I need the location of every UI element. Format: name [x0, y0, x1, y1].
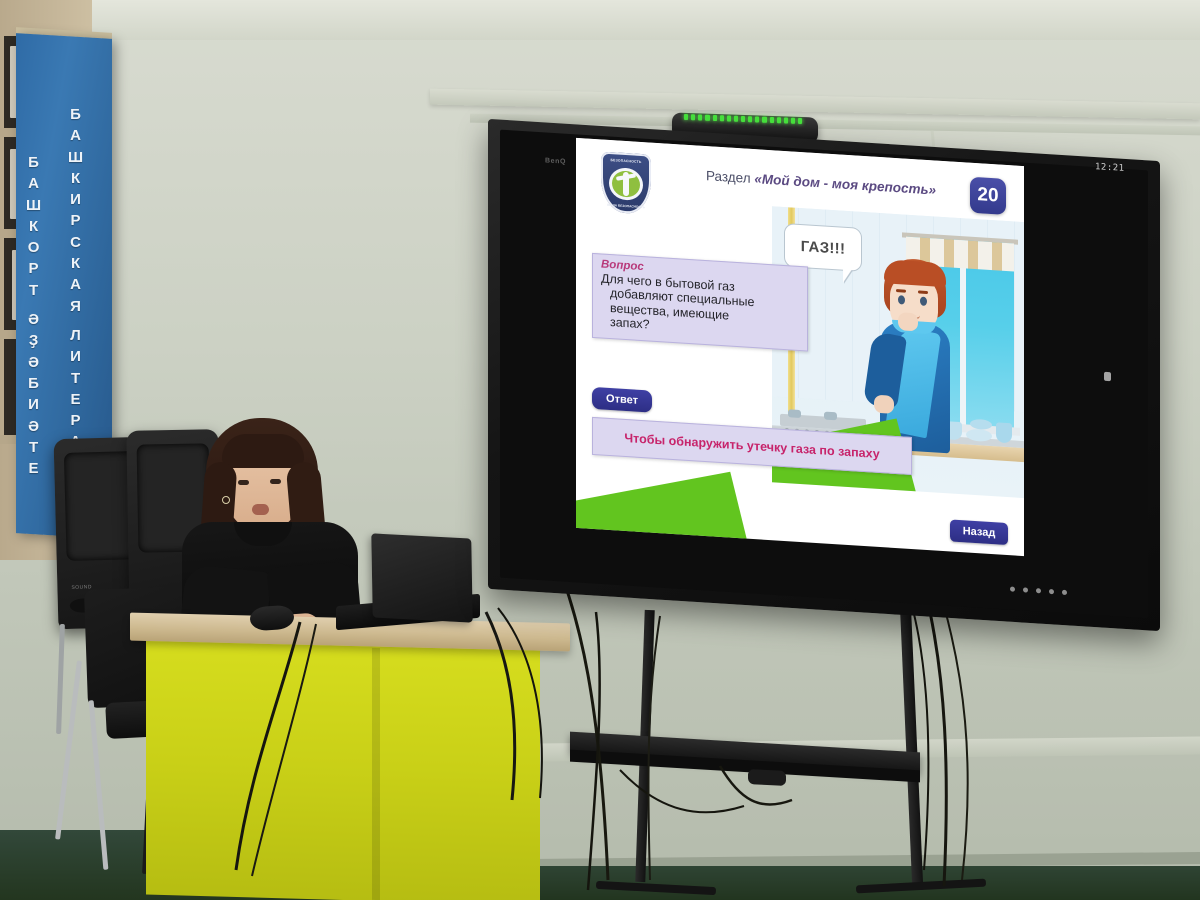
- desk-front-panel: [146, 636, 540, 900]
- shelf-device: [748, 769, 786, 786]
- eye-right: [270, 479, 281, 484]
- stove-burner: [788, 409, 801, 418]
- boy-eye-left: [898, 295, 905, 304]
- fringe: [222, 434, 304, 468]
- mouth: [252, 504, 269, 515]
- boy-fist: [874, 395, 894, 414]
- bezel-button[interactable]: [1062, 589, 1067, 594]
- question-text: Для чего в бытовой газ добавляют специал…: [601, 272, 799, 342]
- desk-panel-seam: [372, 648, 380, 900]
- ceiling: [0, 0, 1200, 40]
- bezel-button[interactable]: [1010, 586, 1015, 591]
- boy-eyebrow-right: [918, 290, 928, 293]
- presentation-slide[interactable]: БЕЗОПАСНОСТЬ ВАША БЕЗОПАСНОСТЬ Раздел «М…: [576, 138, 1024, 556]
- display-clock: 12:21: [1095, 162, 1125, 174]
- bezel-button[interactable]: [1023, 587, 1028, 592]
- slide-title-prefix: Раздел: [706, 168, 754, 186]
- banner-text-russian: БАШКИРСКАЯ ЛИТЕРА: [68, 104, 83, 453]
- bezel-button[interactable]: [1036, 588, 1041, 593]
- plate: [966, 428, 992, 442]
- laptop-screen[interactable]: [371, 533, 472, 622]
- speech-bubble-text: ГАЗ!!!: [801, 238, 846, 258]
- earring: [222, 496, 230, 504]
- safety-emblem: БЕЗОПАСНОСТЬ ВАША БЕЗОПАСНОСТЬ: [601, 151, 651, 214]
- bezel-button[interactable]: [1049, 588, 1054, 593]
- presenter: [178, 418, 358, 633]
- display-brand-label: BenQ: [545, 157, 566, 165]
- boy-eye-right: [920, 297, 927, 306]
- classroom-scene: БАШКОРТ ӘҘӘБИӘТЕ БАШКИРСКАЯ ЛИТЕРА SOUND: [0, 0, 1200, 900]
- eye-left: [238, 480, 249, 485]
- question-box: Вопрос Для чего в бытовой газ добавляют …: [592, 253, 808, 351]
- speech-bubble: ГАЗ!!!: [784, 223, 862, 272]
- boy-eyebrow-left: [896, 289, 906, 292]
- stove-burner: [824, 412, 837, 421]
- answer-button[interactable]: Ответ: [592, 387, 652, 413]
- cup: [996, 422, 1012, 443]
- answer-text: Чтобы обнаружить утечку газа по запаху: [624, 431, 879, 461]
- boy-fringe: [884, 259, 946, 287]
- slide-number-badge: 20: [970, 177, 1006, 215]
- banner-text-bashkir: БАШКОРТ ӘҘӘБИӘТЕ: [26, 152, 41, 479]
- display-side-button[interactable]: [1104, 372, 1111, 381]
- back-button[interactable]: Назад: [950, 519, 1008, 545]
- boy-hand-at-nose: [898, 312, 918, 331]
